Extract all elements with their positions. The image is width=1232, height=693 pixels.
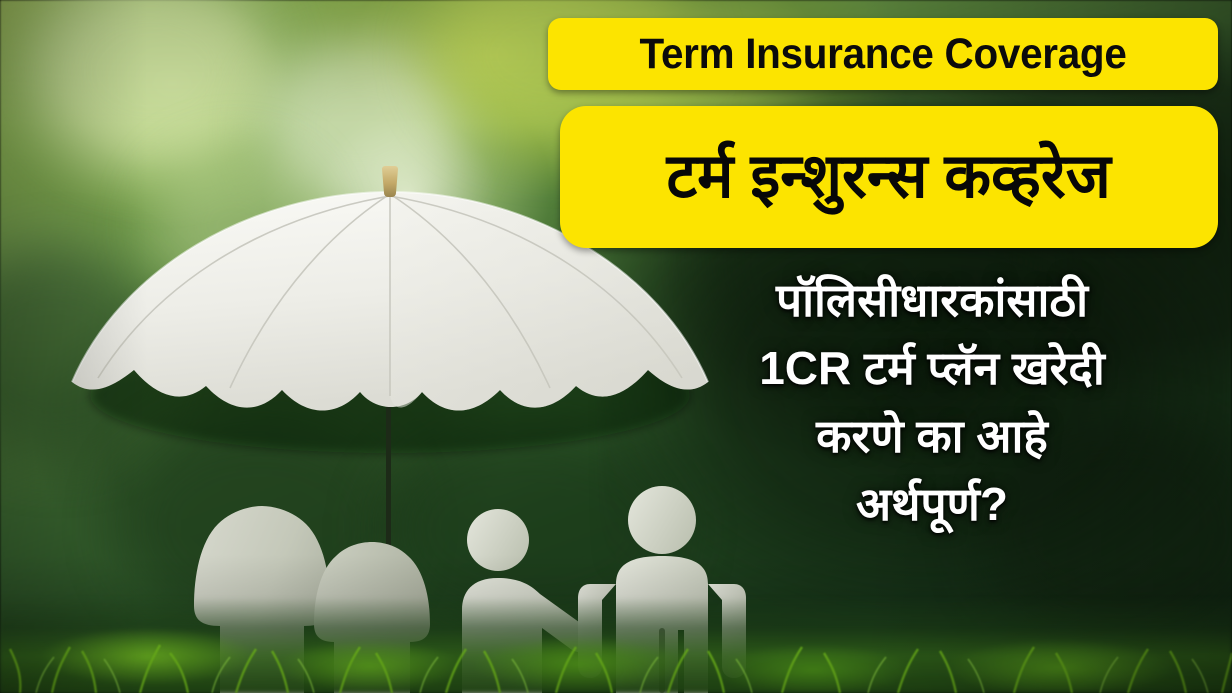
headline-line-1: पॉलिसीधारकांसाठी (632, 266, 1232, 334)
headline-line-4: अर्थपूर्ण? (632, 470, 1232, 538)
banner-english-label: Term Insurance Coverage (639, 33, 1126, 76)
headline-line-2: 1CR टर्म प्लॅन खरेदी (632, 334, 1232, 402)
banner-marathi-label: टर्म इन्शुरन्स कव्हरेज (667, 141, 1111, 212)
headline-line-3: करणे का आहे (632, 402, 1232, 470)
banner-english-title: Term Insurance Coverage (548, 18, 1218, 90)
thumbnail-canvas: Term Insurance Coverage टर्म इन्शुरन्स क… (0, 0, 1232, 693)
headline-text-block: पॉलिसीधारकांसाठी 1CR टर्म प्लॅन खरेदी कर… (632, 266, 1232, 538)
banner-marathi-title: टर्म इन्शुरन्स कव्हरेज (560, 106, 1218, 248)
